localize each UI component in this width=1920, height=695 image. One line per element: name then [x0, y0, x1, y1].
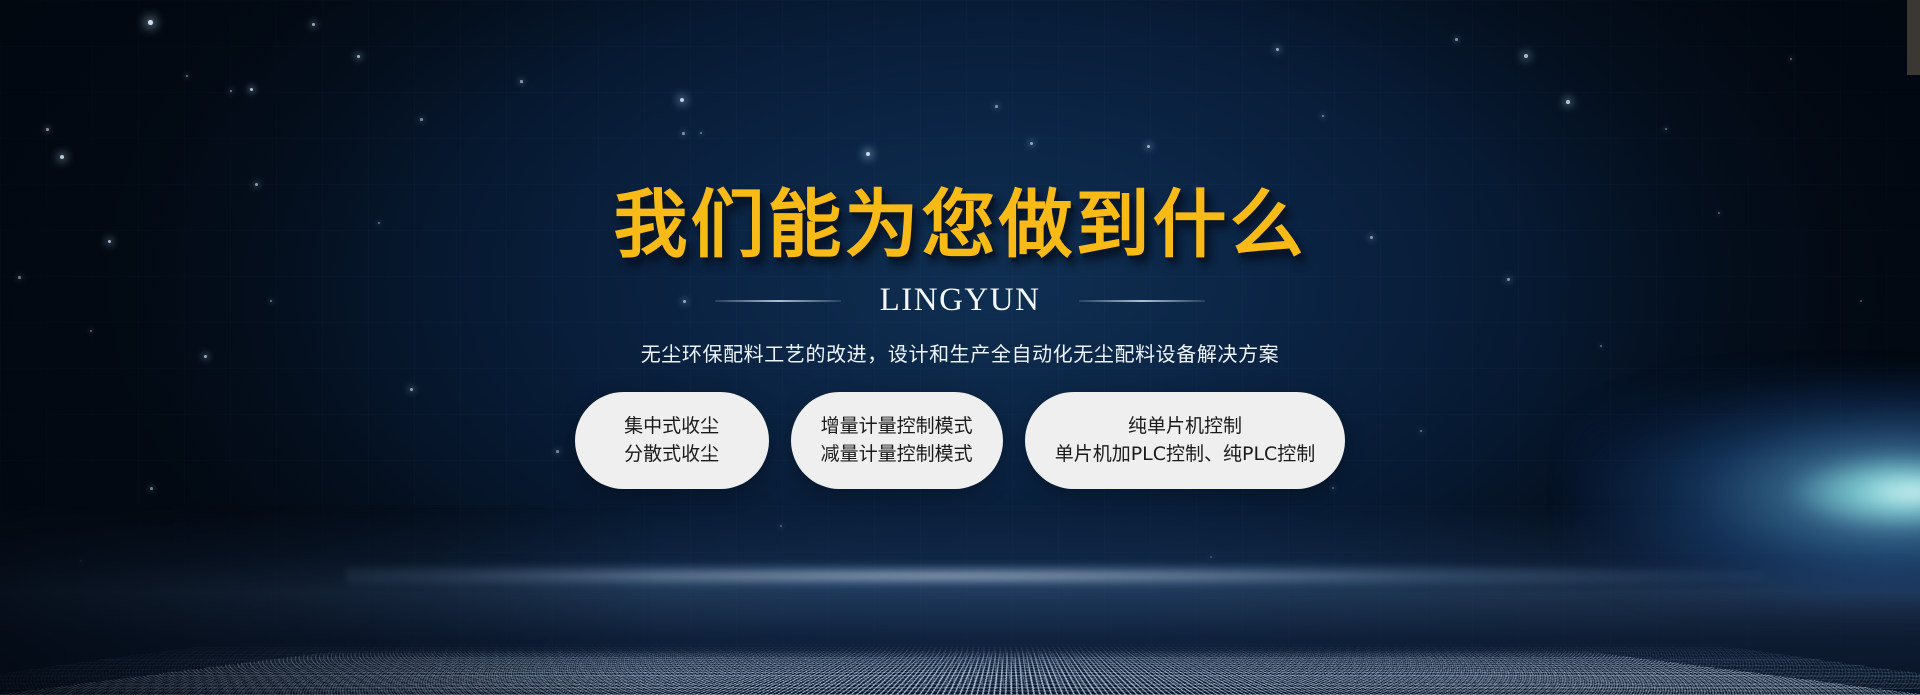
- hero-banner: 我们能为您做到什么 LINGYUN 无尘环保配料工艺的改进，设计和生产全自动化无…: [0, 0, 1920, 695]
- feature-card[interactable]: 纯单片机控制 单片机加PLC控制、纯PLC控制: [1025, 392, 1346, 489]
- card-line-secondary: 单片机加PLC控制、纯PLC控制: [1055, 444, 1316, 466]
- feature-card[interactable]: 增量计量控制模式 减量计量控制模式: [791, 392, 1003, 489]
- scrollbar-thumb[interactable]: [1907, 0, 1920, 75]
- card-line-primary: 纯单片机控制: [1128, 416, 1242, 438]
- brand-name: LINGYUN: [880, 284, 1041, 317]
- banner-content: 我们能为您做到什么 LINGYUN 无尘环保配料工艺的改进，设计和生产全自动化无…: [0, 0, 1920, 695]
- divider-line-left: [715, 300, 841, 302]
- divider-line-right: [1079, 300, 1205, 302]
- brand-row: LINGYUN: [715, 284, 1206, 317]
- feature-card[interactable]: 集中式收尘 分散式收尘: [575, 392, 769, 489]
- card-line-primary: 增量计量控制模式: [821, 416, 973, 438]
- banner-tagline: 无尘环保配料工艺的改进，设计和生产全自动化无尘配料设备解决方案: [641, 338, 1280, 367]
- banner-headline: 我们能为您做到什么: [614, 188, 1307, 262]
- card-line-secondary: 减量计量控制模式: [821, 444, 973, 466]
- card-line-primary: 集中式收尘: [624, 416, 719, 438]
- feature-card-list: 集中式收尘 分散式收尘 增量计量控制模式 减量计量控制模式 纯单片机控制 单片机…: [575, 392, 1346, 489]
- card-line-secondary: 分散式收尘: [624, 444, 719, 466]
